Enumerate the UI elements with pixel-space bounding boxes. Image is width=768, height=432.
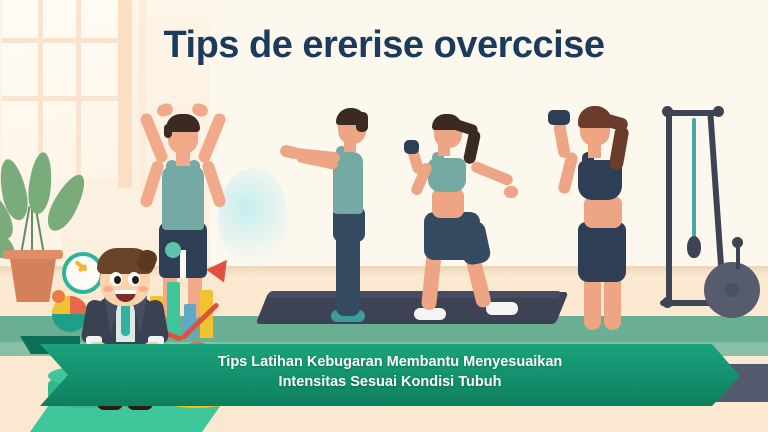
caption-line-2: Intensitas Sesuai Kondisi Tubuh — [170, 372, 610, 392]
caption-text: Tips Latihan Kebugaran Membantu Menyesua… — [170, 352, 610, 392]
page-title: Tips de ererise overccise — [0, 24, 768, 67]
glow-orb — [218, 168, 288, 268]
cable — [692, 118, 696, 240]
poster-canvas: Tips Latihan Kebugaran Membantu Menyesua… — [0, 0, 768, 432]
caption-line-1: Tips Latihan Kebugaran Membantu Menyesua… — [170, 352, 610, 372]
dumbbell — [404, 140, 419, 154]
machine-knob — [732, 237, 743, 248]
clock-check-icon — [62, 252, 104, 294]
decor-dot-orange — [52, 290, 65, 303]
plant-pot-rim — [3, 250, 63, 259]
yoga-mat-highlight — [267, 291, 562, 298]
cable-handle — [687, 236, 701, 258]
dumbbell — [548, 110, 570, 125]
